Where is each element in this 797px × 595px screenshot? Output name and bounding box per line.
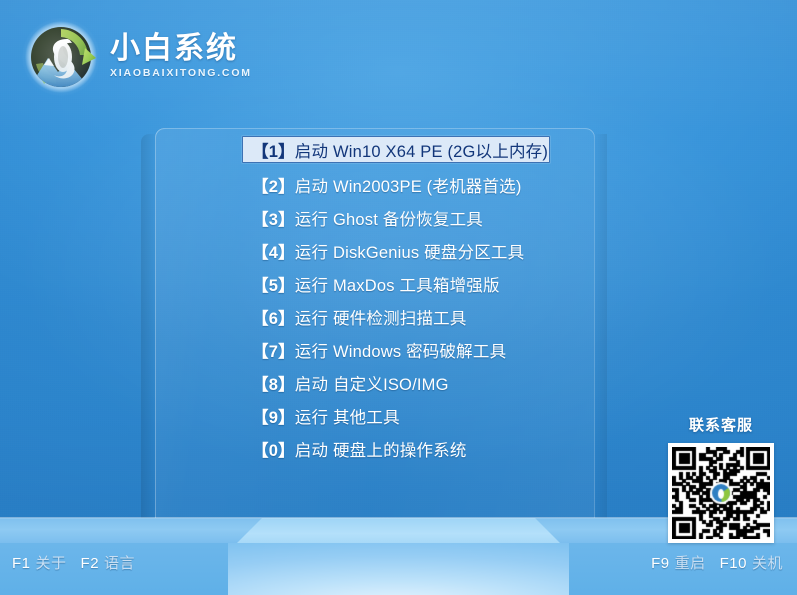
boot-menu-item[interactable]: 【0】启动 硬盘上的操作系统 (246, 437, 546, 460)
brand-name-cn: 小白系统 (110, 33, 252, 65)
boot-menu-item[interactable]: 【6】运行 硬件检测扫描工具 (246, 305, 546, 328)
boot-menu-item-key: 【5】 (252, 272, 295, 296)
boot-menu-item[interactable]: 【7】运行 Windows 密码破解工具 (246, 338, 546, 361)
boot-menu-item-key: 【3】 (252, 206, 295, 230)
xiaobai-circular-logo-icon (22, 18, 100, 96)
podium-front-highlight (228, 543, 569, 595)
boot-menu-item[interactable]: 【1】启动 Win10 X64 PE (2G以上内存) (242, 136, 550, 163)
boot-menu-item[interactable]: 【5】运行 MaxDos 工具箱增强版 (246, 272, 546, 295)
boot-menu-item[interactable]: 【3】运行 Ghost 备份恢复工具 (246, 206, 546, 229)
boot-menu-item-key: 【6】 (252, 305, 295, 329)
footer-hint-label: 重启 (675, 555, 706, 572)
boot-menu-item-key: 【4】 (252, 239, 295, 263)
footer-hints-right: F9重启F10关机 (651, 552, 783, 573)
brand-name-en: XIAOBAIXITONG.COM (110, 67, 252, 79)
boot-menu-item-label: 启动 Win2003PE (老机器首选) (295, 173, 522, 197)
footer-hints-left: F1关于F2语言 (12, 552, 149, 573)
footer-hint-f2[interactable]: F2语言 (81, 552, 136, 573)
footer-hint-label: 关于 (36, 555, 67, 572)
customer-service-title: 联系客服 (668, 414, 774, 435)
boot-menu-item-label: 运行 Windows 密码破解工具 (295, 338, 507, 362)
boot-menu-item[interactable]: 【8】启动 自定义ISO/IMG (246, 371, 546, 394)
podium-top-highlight (236, 518, 561, 544)
boot-menu-item-label: 启动 自定义ISO/IMG (295, 371, 449, 395)
boot-menu-item-key: 【9】 (252, 404, 295, 428)
footer-hint-key: F2 (81, 555, 100, 572)
boot-menu-item-key: 【0】 (252, 437, 295, 461)
boot-menu-item-label: 运行 DiskGenius 硬盘分区工具 (295, 239, 525, 263)
boot-menu-item-label: 运行 Ghost 备份恢复工具 (295, 206, 483, 230)
footer-hint-key: F1 (12, 555, 31, 572)
boot-menu-item-label: 运行 其他工具 (295, 404, 400, 428)
footer-hint-f1[interactable]: F1关于 (12, 552, 67, 573)
customer-service-block: 联系客服 (668, 414, 774, 543)
qr-code-icon[interactable] (668, 443, 774, 543)
footer-hint-f9[interactable]: F9重启 (651, 552, 706, 573)
boot-menu-item-key: 【2】 (252, 173, 295, 197)
boot-menu-item-key: 【8】 (252, 371, 295, 395)
boot-menu-item-label: 启动 硬盘上的操作系统 (295, 437, 467, 461)
boot-menu-item-label: 运行 硬件检测扫描工具 (295, 305, 467, 329)
footer-hint-f10[interactable]: F10关机 (720, 552, 783, 573)
boot-menu-item-label: 运行 MaxDos 工具箱增强版 (295, 272, 500, 296)
boot-menu-item[interactable]: 【2】启动 Win2003PE (老机器首选) (246, 173, 546, 196)
boot-menu-item-key: 【7】 (252, 338, 295, 362)
footer-hint-key: F9 (651, 555, 670, 572)
footer-hint-key: F10 (720, 555, 747, 572)
boot-menu-item-label: 启动 Win10 X64 PE (2G以上内存) (295, 138, 548, 162)
brand-logo: 小白系统 XIAOBAIXITONG.COM (22, 18, 252, 96)
brand-logo-text: 小白系统 XIAOBAIXITONG.COM (110, 33, 252, 82)
boot-menu-item[interactable]: 【4】运行 DiskGenius 硬盘分区工具 (246, 239, 546, 262)
footer-hint-label: 语言 (104, 555, 135, 572)
boot-menu-item-key: 【1】 (252, 138, 295, 162)
qr-code-canvas (672, 447, 770, 539)
boot-menu-item[interactable]: 【9】运行 其他工具 (246, 404, 546, 427)
boot-menu: 【1】启动 Win10 X64 PE (2G以上内存)【2】启动 Win2003… (246, 136, 546, 470)
logo-glow (22, 18, 100, 96)
footer-hint-label: 关机 (752, 555, 783, 572)
